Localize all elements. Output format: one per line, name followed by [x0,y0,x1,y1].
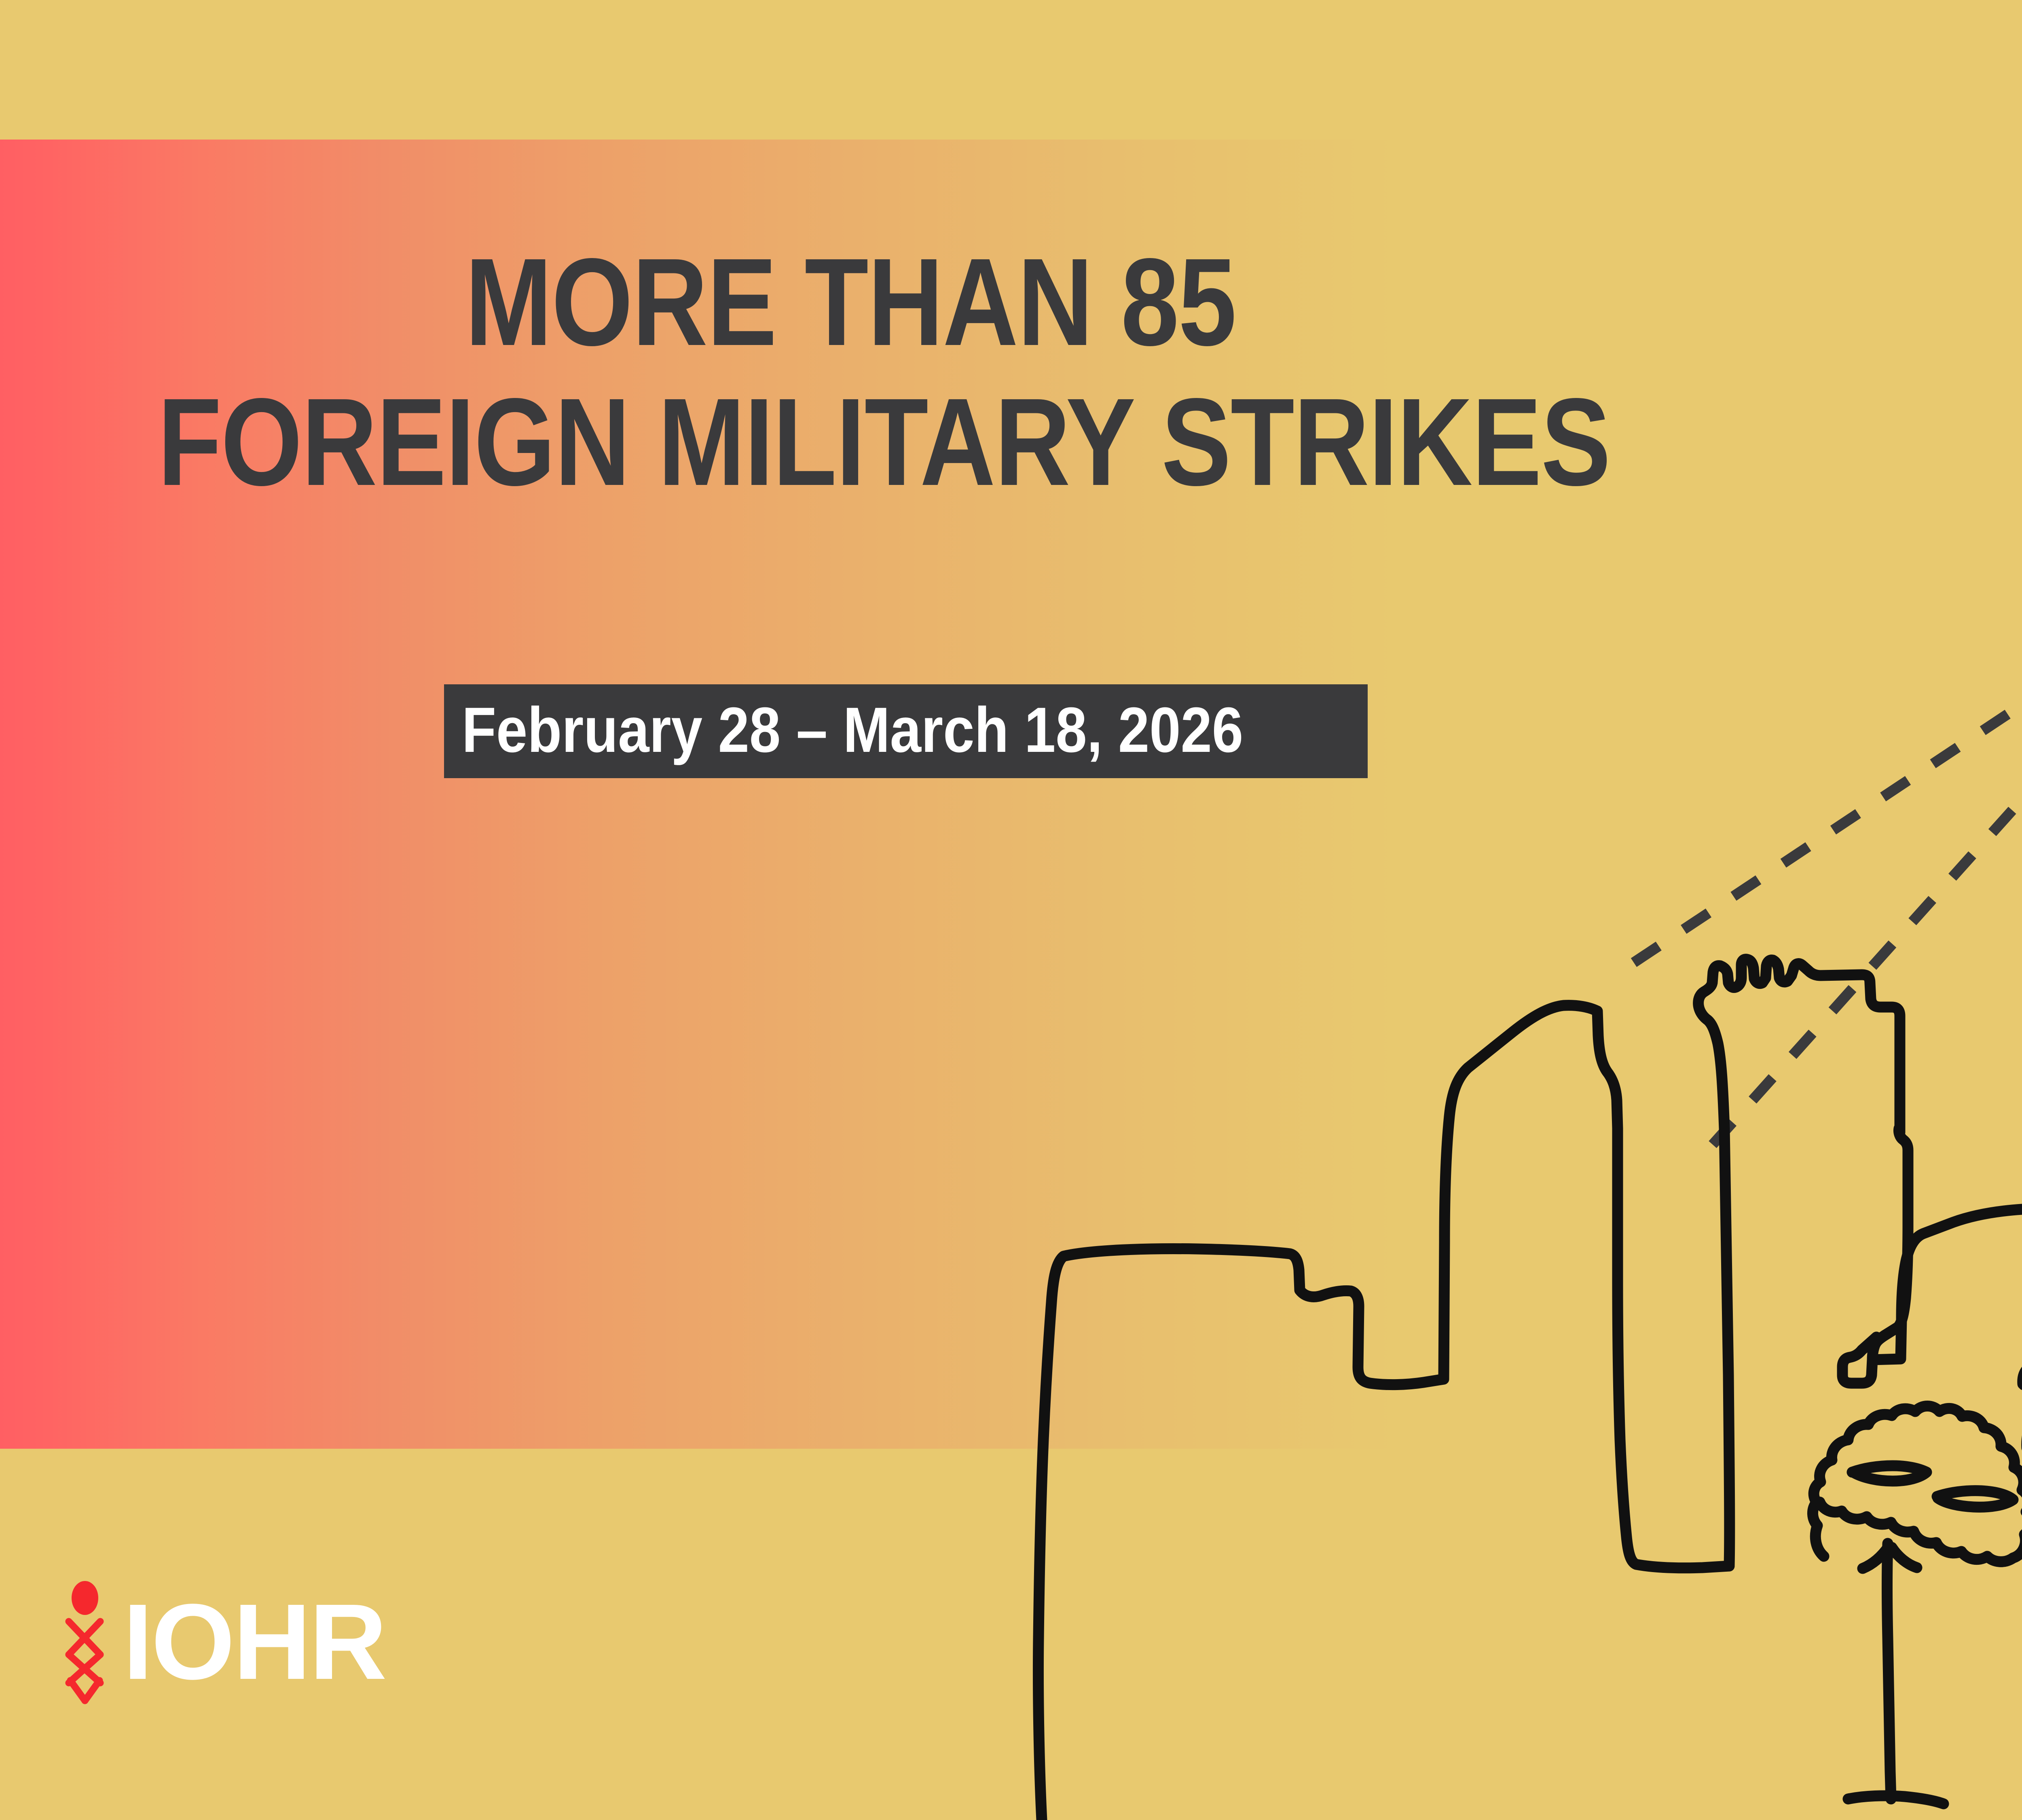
date-range-text: February 28 – March 18, 2026 [462,698,1243,762]
iohr-logo[interactable]: IOHR [60,1579,385,1705]
headline-line-2: FOREIGN MILITARY STRIKES [158,383,1652,502]
iohr-wordmark: IOHR [123,1588,385,1696]
headline-block: MORE THAN 85 FOREIGN MILITARY STRIKES [158,243,1937,502]
date-range-badge: February 28 – March 18, 2026 [444,684,1368,778]
headline-line-1: MORE THAN 85 [465,243,1702,362]
infographic-poster: MORE THAN 85 FOREIGN MILITARY STRIKES Fe… [0,0,2022,1820]
iohr-figure-mark [60,1579,112,1705]
